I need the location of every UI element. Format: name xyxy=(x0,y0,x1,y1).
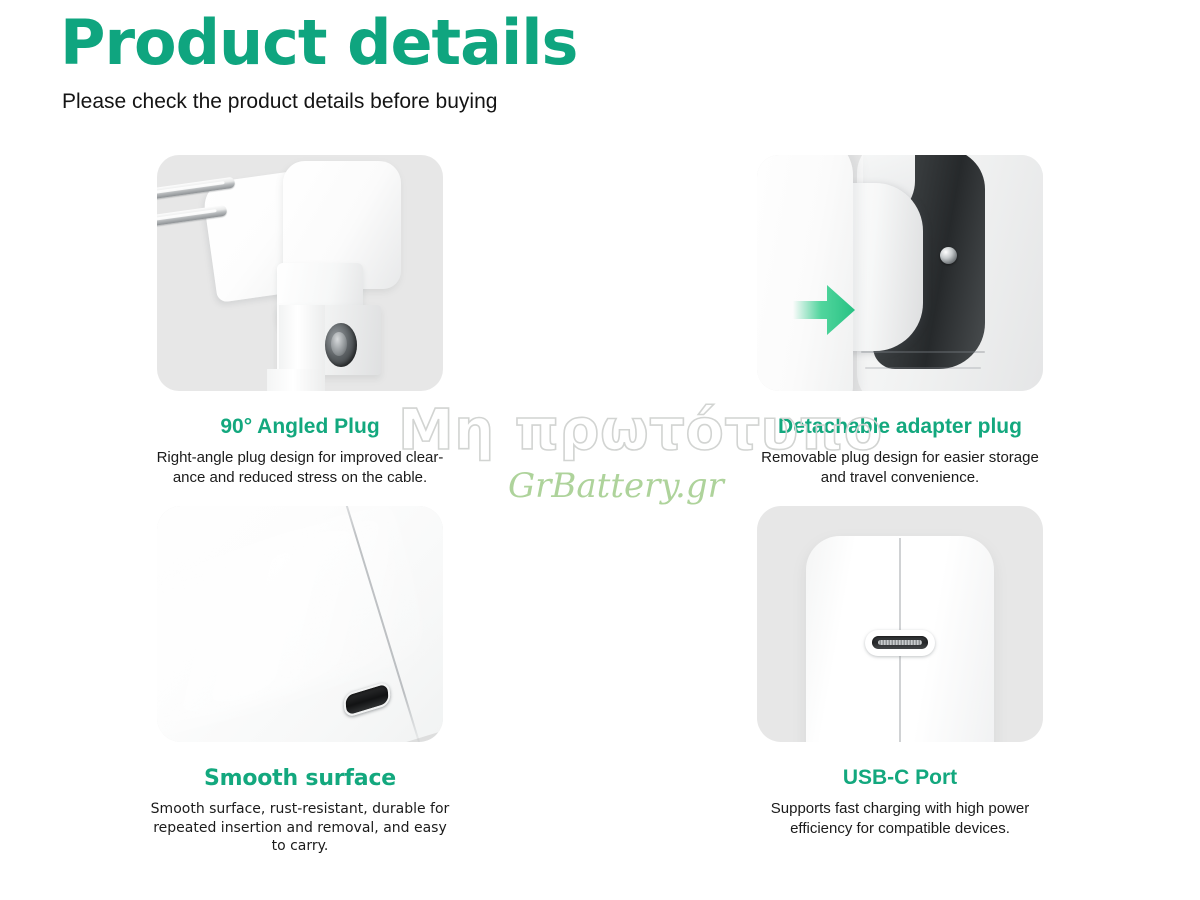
caption-usb-c-port: USB-C Port Supports fast charging with h… xyxy=(750,766,1050,839)
feature-card-usb-c-port: USB-C Port Supports fast charging with h… xyxy=(600,506,1200,856)
feature-card-angled-plug: 90° Angled Plug Right-angle plug design … xyxy=(0,155,600,488)
direction-arrow-icon xyxy=(793,281,855,339)
usb-c-port-front xyxy=(865,630,935,656)
card-title: Detachable adapter plug xyxy=(750,415,1050,439)
card-title: 90° Angled Plug xyxy=(150,415,450,439)
plug-tail-shape xyxy=(267,369,325,391)
caption-detachable-plug: Detachable adapter plug Removable plug d… xyxy=(750,415,1050,488)
usb-c-contact-tongue xyxy=(878,640,922,645)
page-header: Product details Please check the product… xyxy=(0,0,1200,114)
usb-c-port-cavity xyxy=(872,636,928,649)
page-subtitle: Please check the product details before … xyxy=(62,89,1200,114)
product-image-detachable-plug xyxy=(757,155,1043,391)
card-title: USB-C Port xyxy=(750,766,1050,790)
card-description: Right-angle plug design for improved cle… xyxy=(150,448,450,488)
feature-card-detachable-plug: Detachable adapter plug Removable plug d… xyxy=(600,155,1200,488)
product-image-angled-plug xyxy=(157,155,443,391)
caption-smooth-surface: Smooth surface Smooth surface, rust-resi… xyxy=(150,766,450,856)
product-image-smooth-surface xyxy=(157,506,443,742)
card-description: Supports fast charging with high power e… xyxy=(750,799,1050,839)
adapter-seam-upper xyxy=(861,351,985,353)
card-description: Smooth surface, rust-resistant, durable … xyxy=(150,800,450,855)
detached-plug-plate xyxy=(757,155,853,391)
feature-card-smooth-surface: Smooth surface Smooth surface, rust-resi… xyxy=(0,506,600,856)
feature-grid: 90° Angled Plug Right-angle plug design … xyxy=(0,155,1200,855)
card-title: Smooth surface xyxy=(150,766,450,791)
product-image-usb-c-port xyxy=(757,506,1043,742)
caption-angled-plug: 90° Angled Plug Right-angle plug design … xyxy=(150,415,450,488)
adapter-screw xyxy=(940,247,957,264)
page-title: Product details xyxy=(60,10,1200,75)
card-description: Removable plug design for easier storage… xyxy=(750,448,1050,488)
adapter-seam-lower xyxy=(865,367,981,369)
plug-metal-ring xyxy=(325,323,357,367)
